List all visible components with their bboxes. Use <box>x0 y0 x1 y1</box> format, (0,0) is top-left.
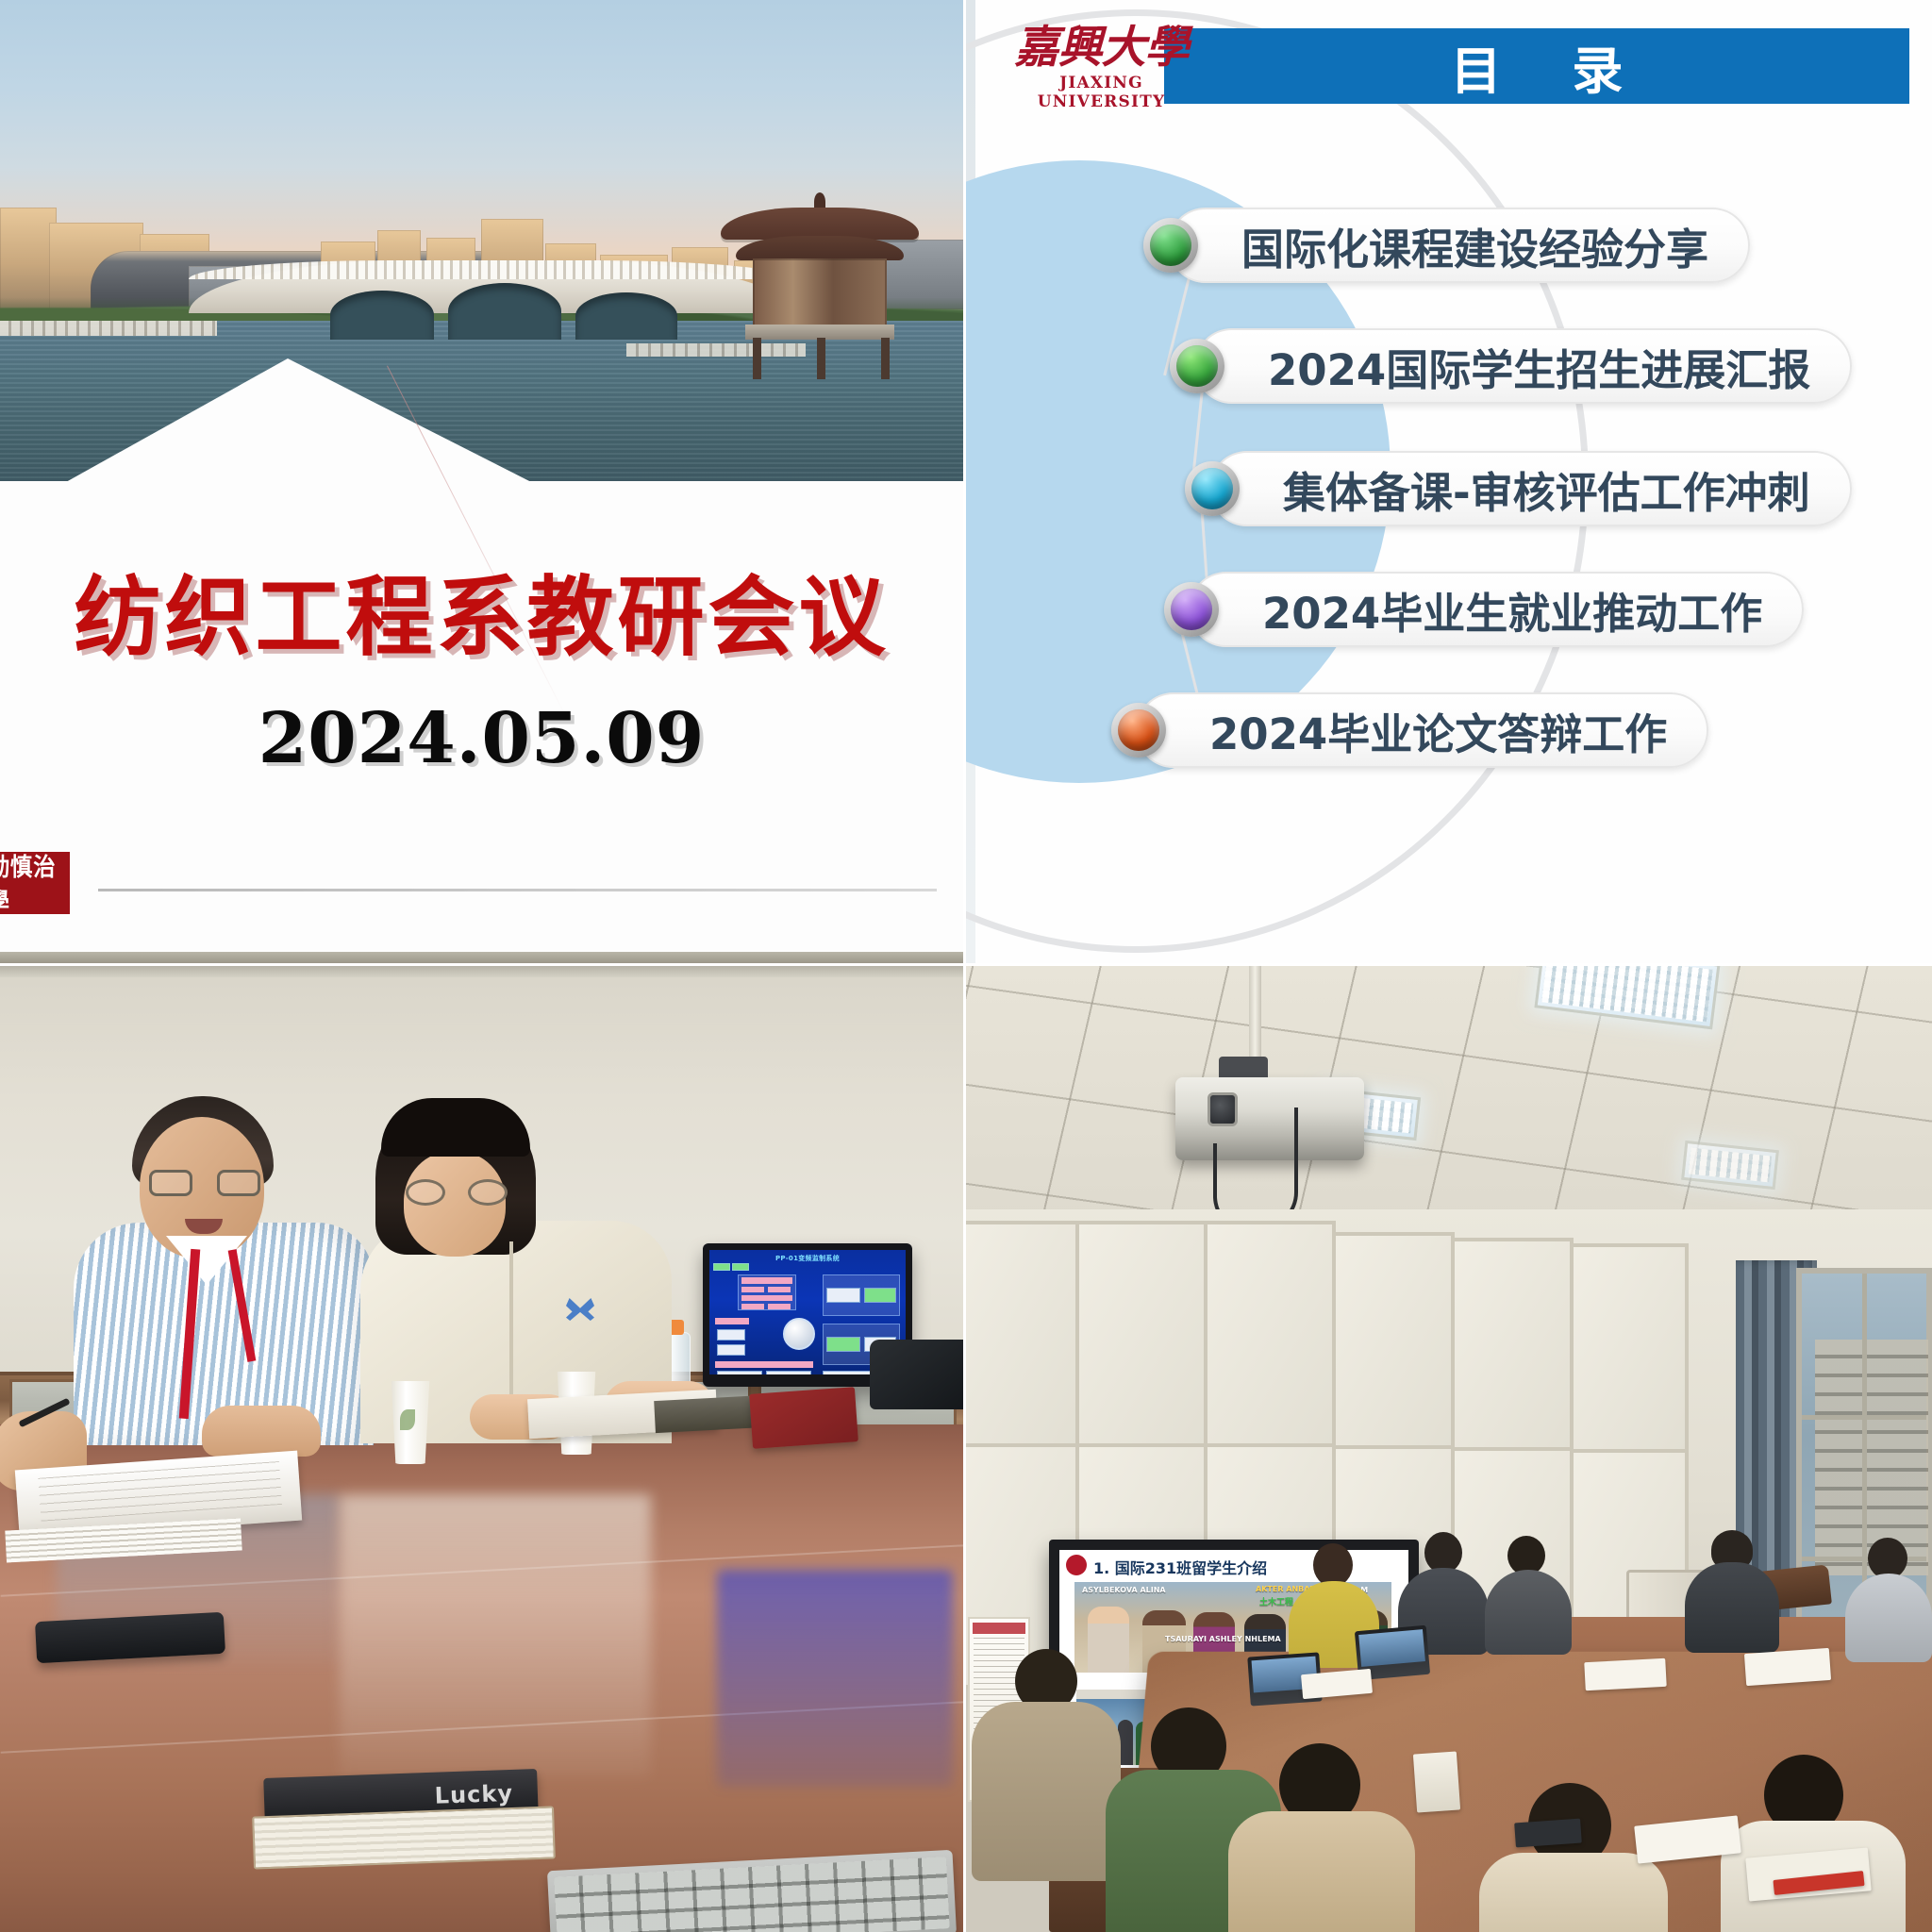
toc-item-1[interactable]: 国际化课程建设经验分享 <box>1168 208 1750 283</box>
logo-name-cn: 嘉興大學 <box>1009 25 1193 71</box>
toc-item-label: 2024毕业生就业推动工作 <box>1262 579 1762 641</box>
projector-lens-icon <box>1207 1092 1238 1126</box>
screen-cell <box>717 1371 762 1374</box>
pavilion-pillar <box>817 338 825 379</box>
toc-pill[interactable]: 2024国际学生招生进展汇报 <box>1194 328 1852 404</box>
wall-panel <box>966 1221 1079 1447</box>
screen-row <box>741 1304 764 1309</box>
paper-cup <box>1413 1751 1460 1812</box>
title-slide: 纺织工程系教研会议 2024.05.09 勤慎治學 <box>0 0 966 966</box>
toc-item-label: 2024毕业论文答辩工作 <box>1209 700 1667 761</box>
wall-panel <box>1570 1243 1689 1453</box>
screen-row <box>768 1304 791 1309</box>
toc-pill[interactable]: 国际化课程建设经验分享 <box>1168 208 1750 283</box>
page-title: 纺织工程系教研会议 <box>0 547 963 673</box>
screen-cell <box>717 1329 745 1341</box>
wall-panel <box>1451 1238 1574 1451</box>
screen-row <box>741 1277 792 1284</box>
screen-row <box>741 1295 792 1301</box>
monitor-reflection <box>717 1570 953 1787</box>
document-text-lines <box>38 1461 282 1522</box>
pavilion-roof-lower <box>736 236 904 260</box>
wall-panel <box>1075 1221 1207 1447</box>
toc-item-label: 2024国际学生招生进展汇报 <box>1268 336 1810 397</box>
bullet-glyph <box>1171 589 1212 630</box>
toc-list: 国际化课程建设经验分享 2024国际学生招生进展汇报 集体备课-审核评估工作冲刺 <box>1136 189 1919 811</box>
bridge-arch <box>330 291 434 340</box>
cup-leaf-print <box>400 1409 415 1430</box>
bullet-icon <box>1164 582 1219 637</box>
torso <box>1685 1562 1779 1653</box>
slide-logo-icon <box>1066 1555 1087 1575</box>
screen-row <box>715 1318 749 1324</box>
table-of-contents-slide: 嘉興大學 JIAXING UNIVERSITY 目 录 国际化课程建设经验分享 <box>966 0 1932 966</box>
glasses-icon <box>149 1170 260 1198</box>
toc-pill[interactable]: 集体备课-审核评估工作冲刺 <box>1209 451 1852 526</box>
screen-row <box>715 1361 813 1368</box>
toc-pill[interactable]: 2024毕业生就业推动工作 <box>1189 572 1804 647</box>
bullet-glyph <box>1191 468 1233 509</box>
slide-bottom-edge <box>0 952 963 963</box>
seal-text: 勤慎治學 <box>0 848 65 918</box>
screen-row <box>768 1287 791 1292</box>
screen-cell <box>766 1371 811 1374</box>
monitor-screen-title: PP-01变频监制系统 <box>709 1254 906 1263</box>
student-name: ASYLBEKOVA ALINA <box>1082 1586 1166 1594</box>
screen-cell <box>826 1288 860 1303</box>
table-reflection <box>340 1494 651 1777</box>
stone-arch-bridge <box>189 249 792 340</box>
slide-date: 2024.05.09 <box>0 698 963 779</box>
pavilion-roof <box>721 208 919 240</box>
notebook-stack <box>252 1806 556 1869</box>
hand <box>202 1406 321 1457</box>
chinese-pavilion <box>711 208 928 377</box>
draped-jacket <box>870 1340 966 1409</box>
university-logo: 嘉興大學 JIAXING UNIVERSITY <box>1009 25 1193 111</box>
bullet-icon <box>1143 218 1198 273</box>
screen-cell <box>717 1344 745 1356</box>
toc-header-label: 目 录 <box>1424 29 1650 104</box>
campus-banner-photo <box>0 0 966 491</box>
toc-item-2[interactable]: 2024国际学生招生进展汇报 <box>1194 328 1852 404</box>
torso <box>1228 1811 1415 1932</box>
screen-dial-icon <box>783 1318 815 1350</box>
torso <box>1485 1570 1572 1655</box>
hair-fringe <box>381 1098 530 1157</box>
bullet-icon <box>1111 703 1166 758</box>
screen-tab <box>713 1263 730 1271</box>
bullet-glyph <box>1118 709 1159 751</box>
screen-cell-active <box>826 1337 860 1352</box>
smartphone <box>1514 1819 1582 1848</box>
student-figure <box>1088 1607 1129 1673</box>
ceiling-edge <box>0 966 966 977</box>
torso <box>1845 1574 1932 1662</box>
slide-title: 1. 国际231班留学生介绍 <box>1093 1556 1267 1578</box>
meeting-photo-right: 1. 国际231班留学生介绍 ASYLBEKOVA ALINA AKTER AN… <box>966 966 1932 1932</box>
book-label: Lucky <box>434 1780 513 1809</box>
major-label: 土木工程 <box>1259 1595 1293 1607</box>
student-name: TSAURAYI ASHLEY NHLEMA <box>1165 1635 1281 1643</box>
toc-item-label: 国际化课程建设经验分享 <box>1241 215 1708 276</box>
toc-item-3[interactable]: 集体备课-审核评估工作冲刺 <box>1209 451 1852 526</box>
toc-item-5[interactable]: 2024毕业论文答辩工作 <box>1136 692 1708 768</box>
bullet-glyph <box>1176 345 1218 387</box>
document <box>1584 1658 1666 1690</box>
bullet-icon <box>1170 339 1224 393</box>
torso <box>972 1702 1121 1881</box>
meeting-photo-left: PP-01变频监制系统 <box>0 966 966 1932</box>
building-outside <box>1815 1340 1928 1575</box>
pavilion-pillar <box>881 338 890 379</box>
university-seal-stamp: 勤慎治學 <box>0 852 70 914</box>
white-band <box>0 481 966 494</box>
footer-divider <box>98 889 937 891</box>
pavilion-pillar <box>753 338 761 379</box>
wall-panel <box>1204 1221 1336 1447</box>
document <box>1744 1648 1831 1686</box>
bridge-arch <box>575 292 677 340</box>
logo-name-en: JIAXING UNIVERSITY <box>1009 74 1193 111</box>
pavilion-body <box>753 258 887 326</box>
poster-heading <box>973 1623 1025 1634</box>
torso <box>1479 1853 1668 1932</box>
bridge-railing <box>189 260 792 279</box>
glasses-icon <box>406 1179 508 1207</box>
bridge-arch <box>448 283 561 340</box>
red-notebook <box>749 1387 858 1449</box>
toc-pill[interactable]: 2024毕业论文答辩工作 <box>1136 692 1708 768</box>
screen-row <box>741 1287 764 1292</box>
toc-header-bar: 目 录 <box>1164 28 1909 104</box>
slide-photo-collage: 纺织工程系教研会议 2024.05.09 勤慎治學 嘉興大學 JIAXING U… <box>0 0 1932 1932</box>
toc-item-label: 集体备课-审核评估工作冲刺 <box>1283 458 1810 520</box>
keyboard-keys <box>554 1857 949 1932</box>
screen-cell-active <box>864 1288 896 1303</box>
window-mullion <box>1802 1557 1926 1561</box>
floating-dock <box>0 321 217 336</box>
screen-tab <box>732 1263 749 1271</box>
bullet-icon <box>1185 461 1240 516</box>
wall-panel <box>1332 1232 1455 1449</box>
window-mullion <box>1802 1415 1926 1420</box>
toc-item-4[interactable]: 2024毕业生就业推动工作 <box>1189 572 1804 647</box>
bullet-glyph <box>1150 225 1191 266</box>
